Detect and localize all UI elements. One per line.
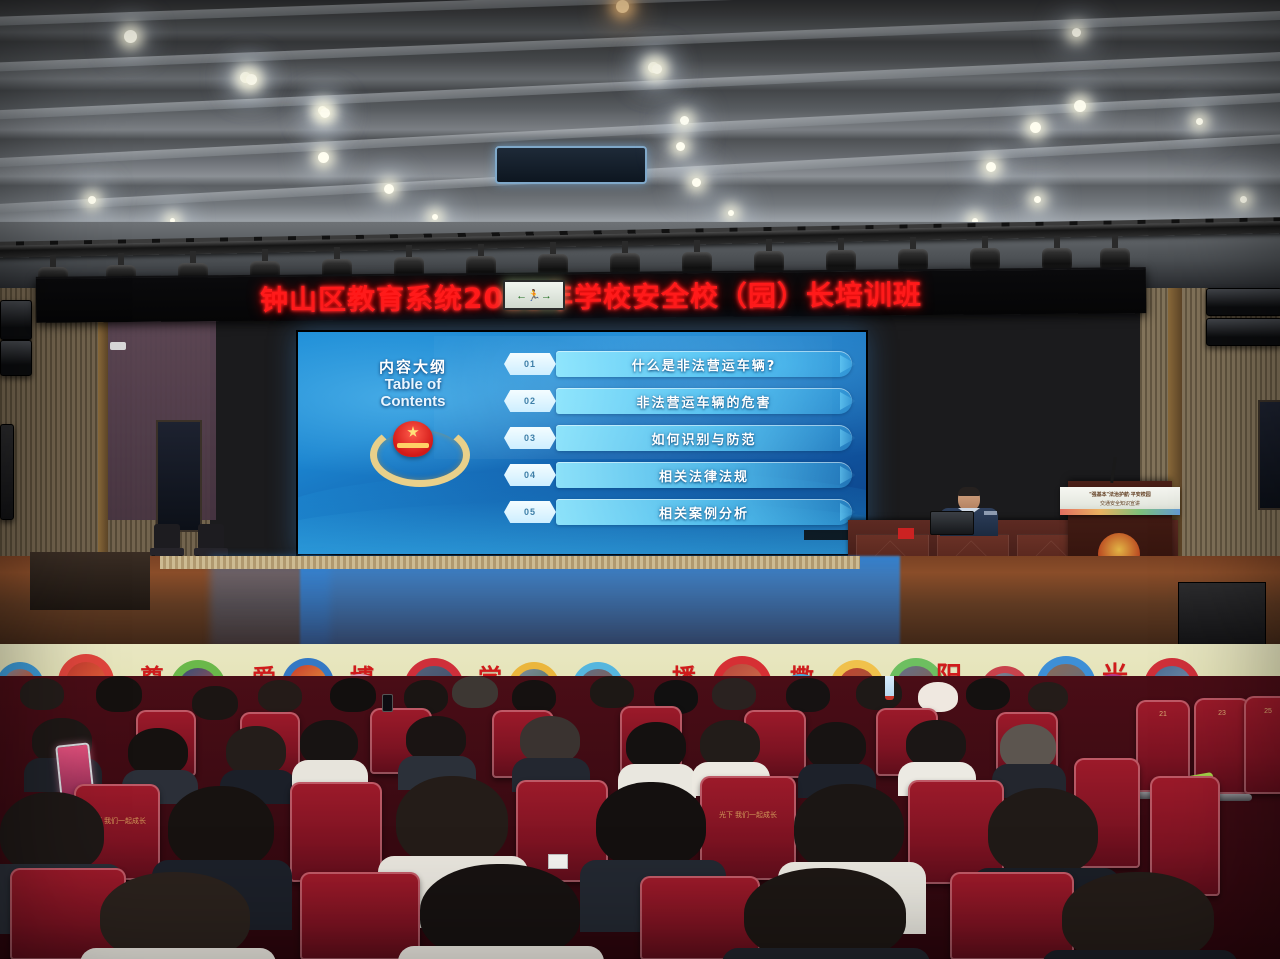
seat-text: 光下 我们一起成长 <box>706 811 790 821</box>
pa-speaker <box>0 340 32 376</box>
ac-vent <box>495 146 647 184</box>
attendee <box>590 676 634 708</box>
stage-floor <box>0 556 1280 648</box>
ceiling-light <box>1030 122 1041 133</box>
attendee <box>406 716 468 778</box>
slide-toc-item: 03 如何识别与防范 <box>498 422 856 456</box>
ceiling <box>0 0 1280 232</box>
attendee <box>226 726 288 790</box>
slide-heading-block: 内容大纲 Table of Contents <box>338 356 488 475</box>
attendee <box>100 872 260 959</box>
ceiling-light <box>1034 196 1041 203</box>
led-screen: 内容大纲 Table of Contents 01 什么是非法营运车辆? <box>296 330 868 556</box>
empty-seat[interactable]: 25 <box>1244 696 1280 794</box>
seat-row-number: 25 <box>1244 708 1280 715</box>
ceiling-light <box>320 108 330 118</box>
attendee <box>258 680 302 712</box>
attendee <box>1028 682 1068 712</box>
wall-monitor <box>0 424 14 520</box>
slide-toc-label: 非法营运车辆的危害 <box>556 388 852 414</box>
ceiling-light <box>652 64 662 74</box>
ceiling-light <box>1196 118 1203 125</box>
auditorium-photo: 钟山区教育系统2025年学校安全校（园）长培训班 ←🏃→ 内容大纲 Table … <box>0 0 1280 959</box>
podium-sign-line1: "强基本"法治护航·平安校园 <box>1060 491 1180 498</box>
slide-toc-item: 01 什么是非法营运车辆? <box>498 348 856 382</box>
attendee <box>712 678 756 710</box>
attendee <box>786 678 830 712</box>
ceiling-light <box>692 178 701 187</box>
ceiling-light <box>246 74 257 85</box>
slide-toc-item: 04 相关法律法规 <box>498 459 856 493</box>
slide-heading-cn: 内容大纲 <box>338 356 488 377</box>
attendee <box>966 678 1010 710</box>
ceiling-light <box>986 162 996 172</box>
slide-toc-label: 相关法律法规 <box>556 462 852 488</box>
pa-speaker <box>1206 288 1280 316</box>
slide-toc-number: 03 <box>504 427 556 449</box>
side-door <box>156 420 202 532</box>
ceiling-light <box>1074 100 1086 112</box>
side-door <box>1258 400 1280 510</box>
led-banner: 钟山区教育系统2025年学校安全校（园）长培训班 <box>36 267 1146 323</box>
attendee <box>452 676 498 708</box>
seat[interactable] <box>300 872 420 959</box>
ceiling-light <box>1240 196 1247 203</box>
exit-sign-icon: ←🏃→ <box>503 280 565 310</box>
slide-dark-patch <box>804 530 850 540</box>
seat-row-number: 23 <box>1194 710 1250 717</box>
stage-edge <box>160 556 860 569</box>
banner-text: 钟山区教育系统2025年学校安全校（园）长培训班 <box>36 271 1146 321</box>
slide-toc-item: 05 相关案例分析 <box>498 496 856 530</box>
attendee <box>744 868 914 959</box>
security-camera <box>110 342 126 350</box>
attendee <box>626 722 688 784</box>
exit-sign-label: ←🏃→ <box>516 289 552 302</box>
ceiling-light <box>676 142 685 151</box>
presentation-slide: 内容大纲 Table of Contents 01 什么是非法营运车辆? <box>298 332 866 554</box>
seat-row-number: 21 <box>1136 711 1190 718</box>
smartphone <box>382 694 393 712</box>
attendee <box>20 678 66 712</box>
ceiling-light <box>680 116 689 125</box>
ceiling-light <box>384 184 394 194</box>
attendee <box>128 728 190 790</box>
police-emblem-icon <box>370 413 456 475</box>
slide-heading-en-line1: Table of <box>338 377 488 394</box>
podium-sign: "强基本"法治护航·平安校园 交通安全知识宣讲 <box>1060 487 1180 515</box>
attendee <box>1000 724 1058 784</box>
attendee <box>856 676 902 710</box>
attendee <box>520 716 582 778</box>
attendee <box>512 680 556 714</box>
attendee <box>300 720 360 780</box>
attendee <box>1062 872 1222 959</box>
seat[interactable] <box>290 782 382 882</box>
attendee <box>96 676 142 712</box>
slide-toc-list: 01 什么是非法营运车辆? 02 非法营运车辆的危害 03 如何识别与防范 04… <box>498 348 856 533</box>
audience-area: 21 23 25 <box>0 676 1280 959</box>
ceiling-light <box>728 210 734 216</box>
slide-toc-number: 04 <box>504 464 556 486</box>
slide-toc-label: 什么是非法营运车辆? <box>556 351 852 377</box>
water-bottle <box>885 676 894 700</box>
stage-monitor-speaker <box>1178 582 1266 646</box>
slide-toc-number: 05 <box>504 501 556 523</box>
equipment-cabinet <box>30 552 150 610</box>
desk-flag <box>898 528 914 539</box>
microphone-icon <box>1110 457 1117 483</box>
slide-toc-number: 02 <box>504 390 556 412</box>
ceiling-light <box>124 30 137 43</box>
attendee <box>192 686 238 720</box>
attendee <box>906 720 968 782</box>
ceiling-light <box>318 152 329 163</box>
attendee <box>420 864 590 959</box>
ceiling-light <box>616 0 629 13</box>
attendee <box>700 720 762 782</box>
attendee <box>806 722 868 784</box>
laptop <box>930 511 974 535</box>
seat[interactable] <box>950 872 1074 959</box>
slide-toc-item: 02 非法营运车辆的危害 <box>498 385 856 419</box>
ceiling-light <box>88 196 96 204</box>
slide-toc-label: 如何识别与防范 <box>556 425 852 451</box>
podium-sign-line2: 交通安全知识宣讲 <box>1060 500 1180 507</box>
slide-heading-en-line2: Contents <box>338 394 488 411</box>
slide-toc-label: 相关案例分析 <box>556 499 852 525</box>
ceiling-light <box>1072 28 1081 37</box>
seat[interactable] <box>640 876 760 959</box>
pa-speaker <box>0 300 32 340</box>
pa-speaker <box>1206 318 1280 346</box>
slide-toc-number: 01 <box>504 353 556 375</box>
attendee <box>330 678 376 712</box>
ceiling-light <box>432 214 438 220</box>
